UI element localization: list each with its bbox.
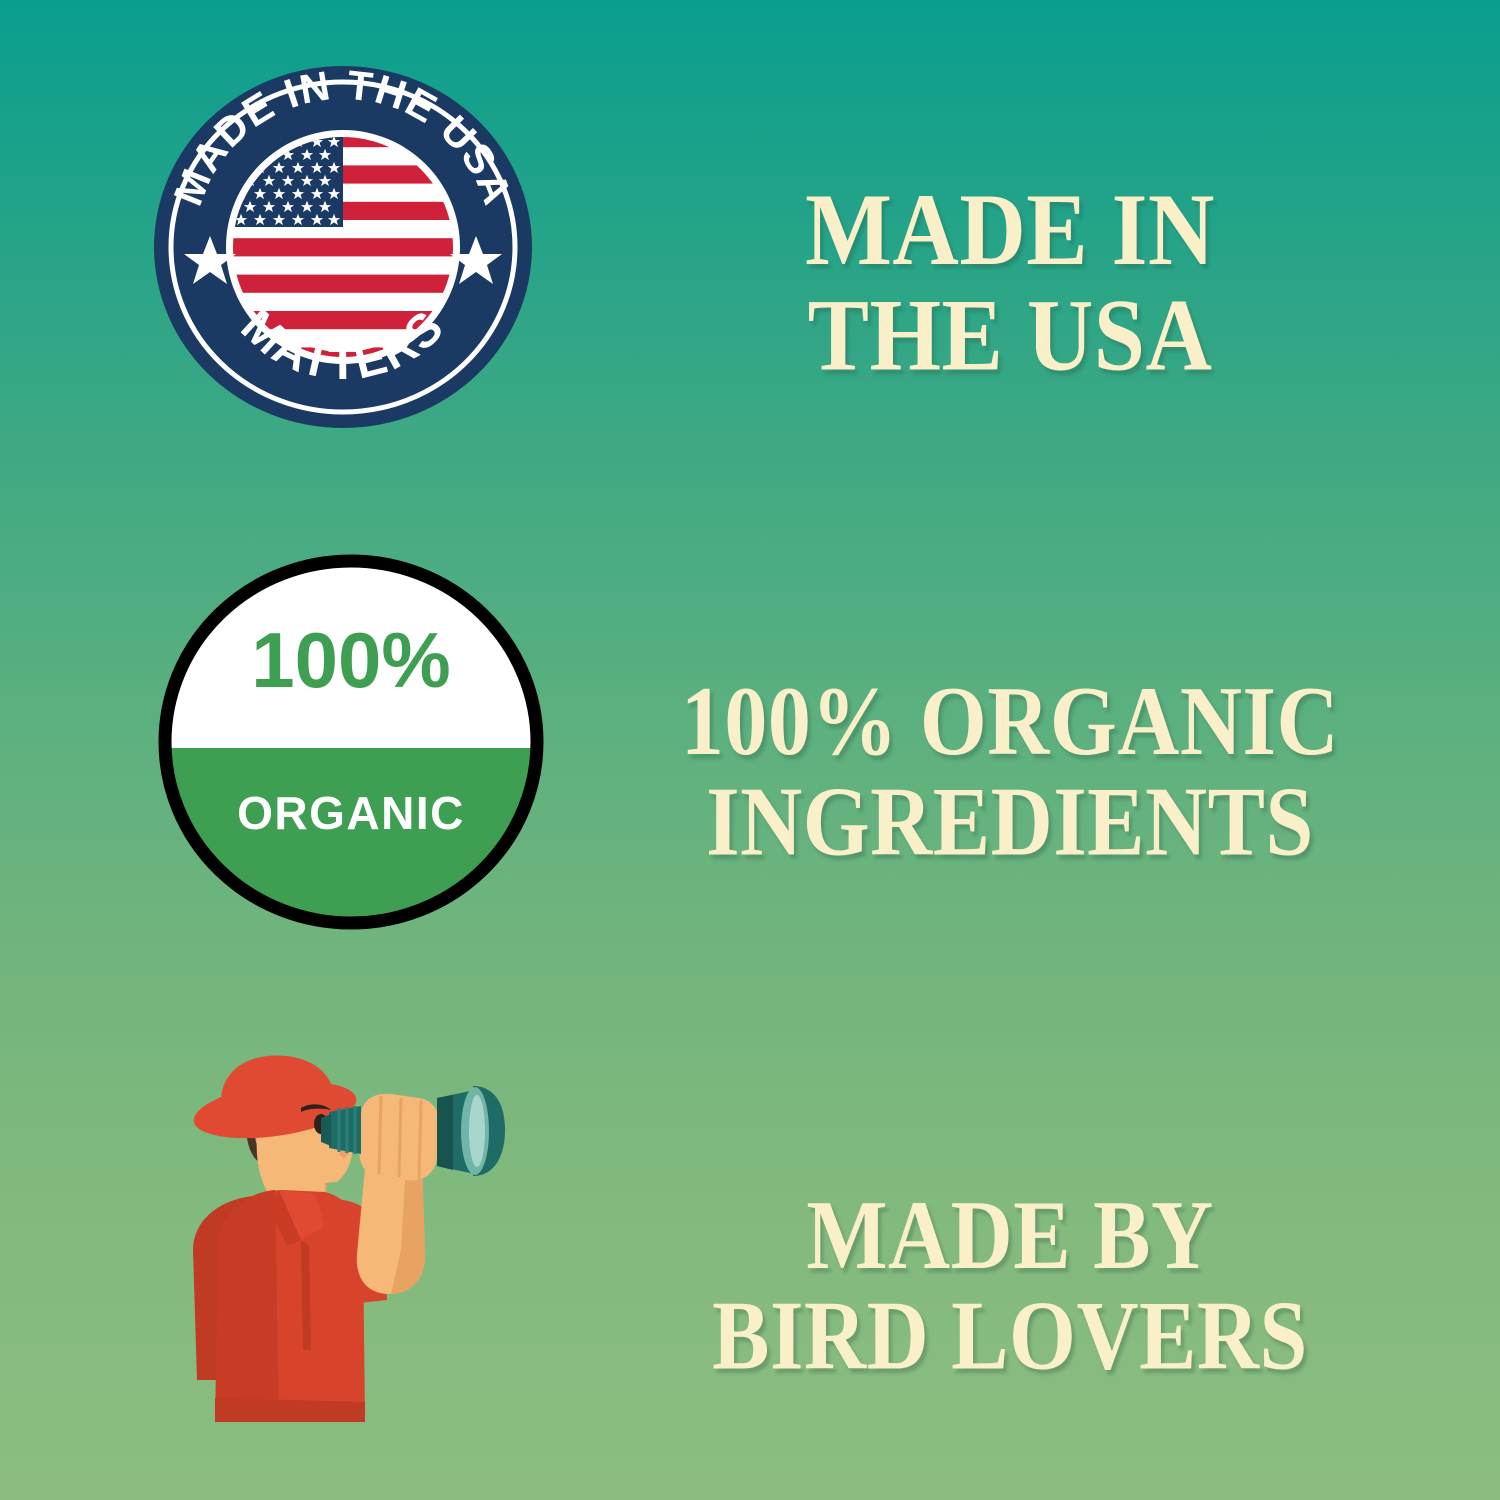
organic-label-text: ORGANIC [237,787,465,839]
headline-line-2: BIRD LOVERS [620,1286,1400,1386]
made-in-usa-seal-badge: MADE IN THE USA MATTERS [153,66,533,429]
headline-made-by-bird-lovers: MADE BY BIRD LOVERS [620,1186,1400,1386]
headline-line-1: MADE IN [620,178,1400,283]
organic-seal-icon: 100% ORGANIC [156,552,546,932]
birdwatcher-icon [175,1050,520,1440]
headline-made-in-usa: MADE IN THE USA [620,178,1400,388]
headline-line-1: 100% ORGANIC [560,672,1460,772]
headline-line-2: THE USA [620,283,1400,388]
feature-poster: MADE IN THE USA MATTERS 100% [0,0,1500,1500]
made-in-usa-seal-icon: MADE IN THE USA MATTERS [153,66,533,429]
headline-organic-ingredients: 100% ORGANIC INGREDIENTS [560,672,1460,872]
headline-line-1: MADE BY [620,1186,1400,1286]
organic-seal-badge: 100% ORGANIC [156,552,546,932]
organic-percent-text: 100% [251,616,451,704]
birdwatcher-illustration [175,1050,520,1440]
headline-line-2: INGREDIENTS [560,772,1460,872]
